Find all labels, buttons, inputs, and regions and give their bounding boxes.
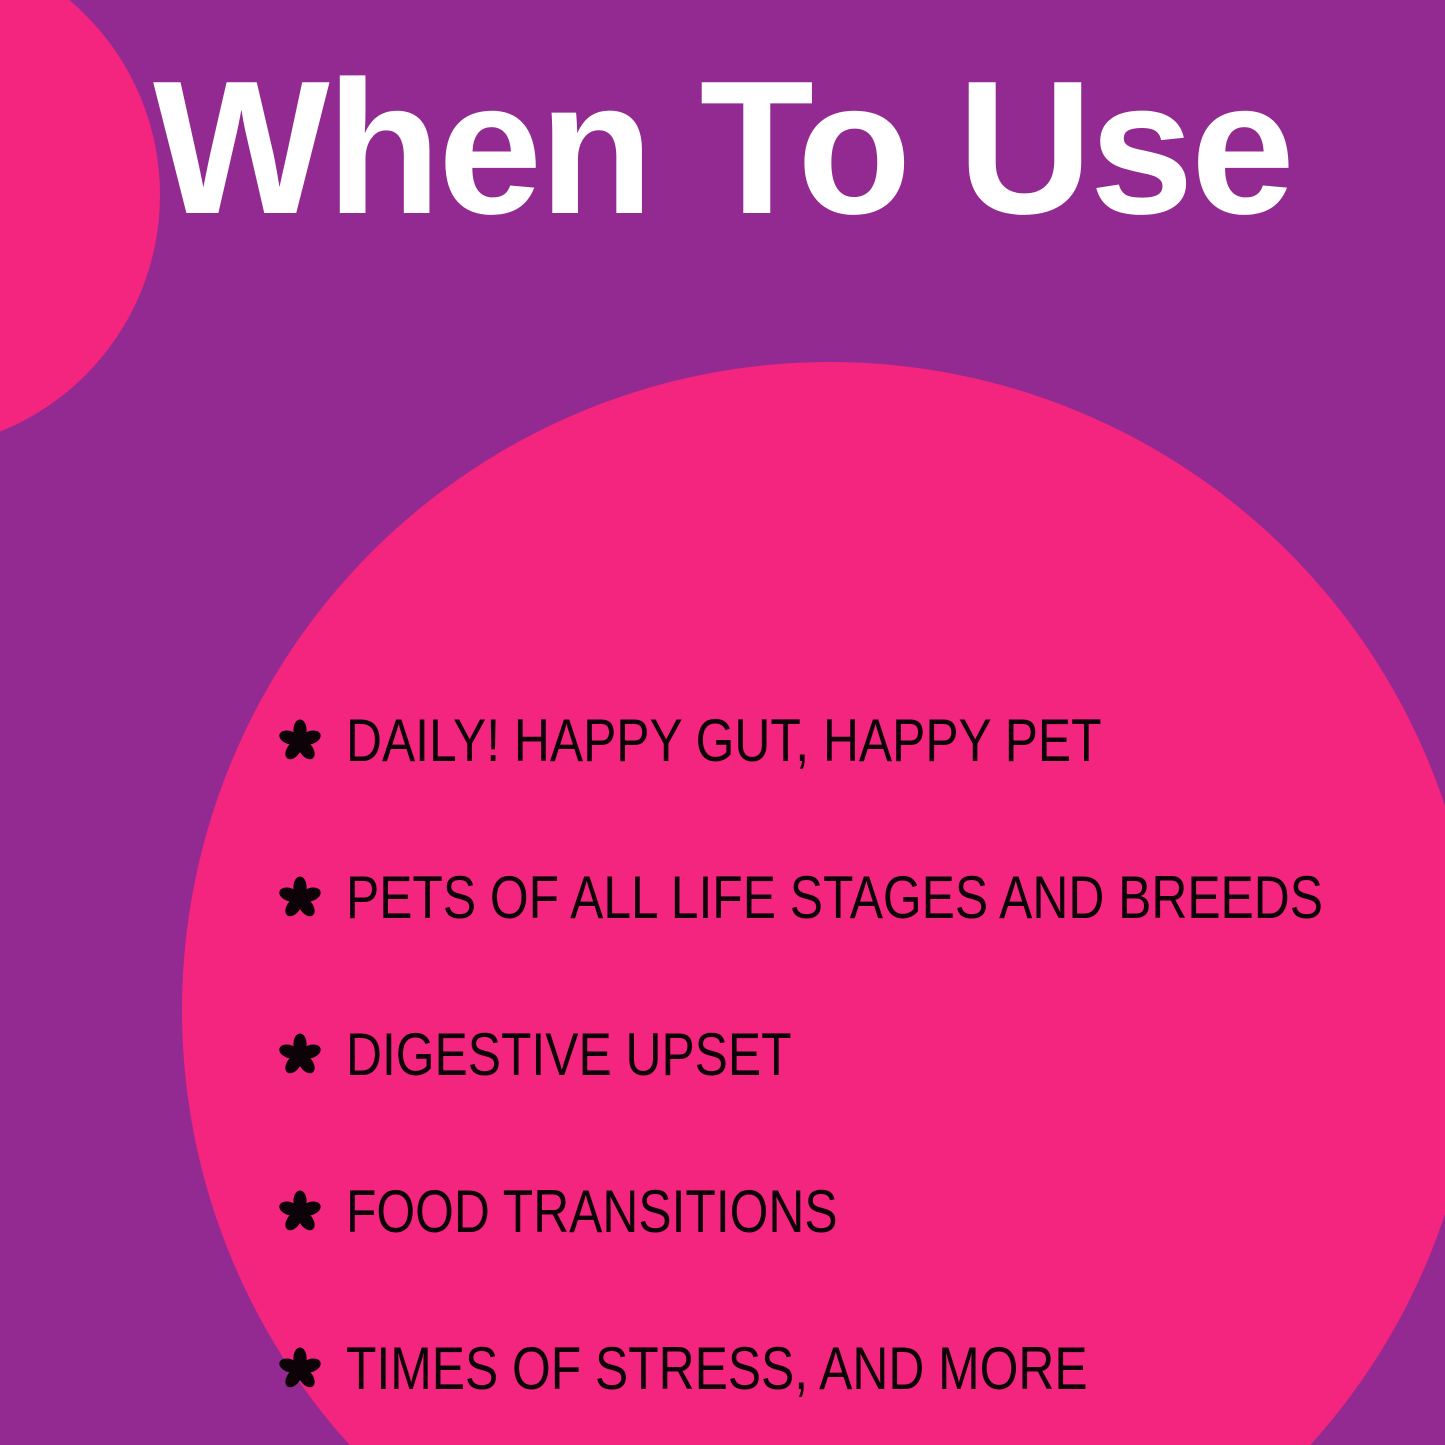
page-title: When To Use — [11, 52, 1434, 246]
list-item-label: DIGESTIVE UPSET — [346, 1025, 1227, 1085]
list-item-label: PETS OF ALL LIFE STAGES AND BREEDS — [346, 868, 1323, 928]
list-item: DAILY! HAPPY GUT, HAPPY PET — [278, 662, 1408, 819]
flower-asterisk-icon — [278, 1033, 322, 1077]
list-item: FOOD TRANSITIONS — [278, 1133, 1408, 1290]
list-item: PETS OF ALL LIFE STAGES AND BREEDS — [278, 819, 1408, 976]
list-item-label: TIMES OF STRESS, AND MORE — [346, 1339, 1227, 1399]
flower-asterisk-icon — [278, 1190, 322, 1234]
list-item-label: FOOD TRANSITIONS — [346, 1182, 1227, 1242]
flower-asterisk-icon — [278, 1347, 322, 1391]
list-item: TIMES OF STRESS, AND MORE — [278, 1290, 1408, 1445]
benefits-list: DAILY! HAPPY GUT, HAPPY PET PETS OF ALL … — [278, 662, 1408, 1445]
list-item: DIGESTIVE UPSET — [278, 976, 1408, 1133]
flower-asterisk-icon — [278, 719, 322, 763]
flower-asterisk-icon — [278, 876, 322, 920]
poster-canvas: When To Use DAILY! HAPPY GUT, HAPPY PET — [0, 0, 1445, 1445]
list-item-label: DAILY! HAPPY GUT, HAPPY PET — [346, 711, 1227, 771]
